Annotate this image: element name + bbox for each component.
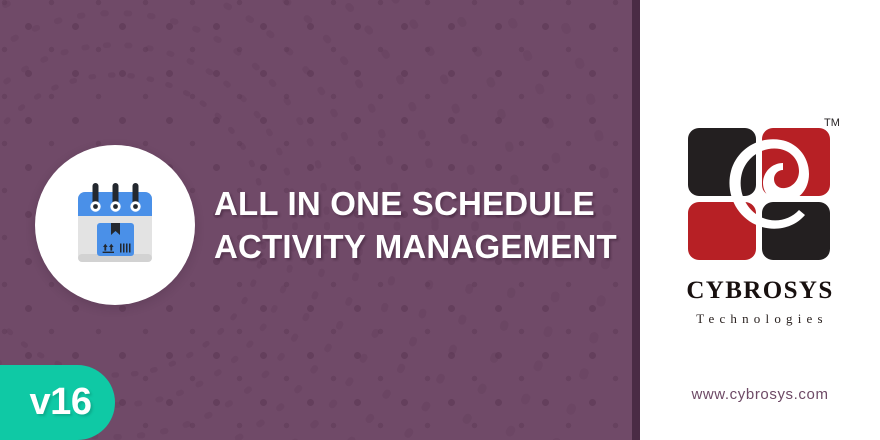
promo-banner: ALL IN ONE SCHEDULE ACTIVITY MANAGEMENT … (0, 0, 880, 440)
left-purple-panel: ALL IN ONE SCHEDULE ACTIVITY MANAGEMENT … (0, 0, 632, 440)
cybrosys-logo-mark: TM (680, 112, 840, 264)
right-brand-panel: TM CYBROSYS Technologies www.cybrosys.co… (640, 0, 880, 440)
trademark-symbol: TM (824, 117, 840, 129)
version-badge: v16 (0, 365, 115, 440)
website-url[interactable]: www.cybrosys.com (640, 386, 880, 403)
page-title: ALL IN ONE SCHEDULE ACTIVITY MANAGEMENT (214, 182, 624, 268)
feature-icon-circle (35, 145, 195, 305)
brand-logo-block: TM CYBROSYS Technologies (640, 112, 880, 325)
cybrosys-logo-icon: TM (680, 112, 840, 264)
brand-sub-wordmark: Technologies (640, 312, 880, 325)
panel-divider-stripe (632, 0, 640, 440)
version-badge-label: v16 (24, 381, 92, 424)
calendar-package-icon (74, 182, 156, 268)
headline-line-2: ACTIVITY MANAGEMENT (214, 225, 624, 268)
headline-line-1: ALL IN ONE SCHEDULE (214, 182, 624, 225)
brand-wordmark: CYBROSYS (640, 278, 880, 303)
